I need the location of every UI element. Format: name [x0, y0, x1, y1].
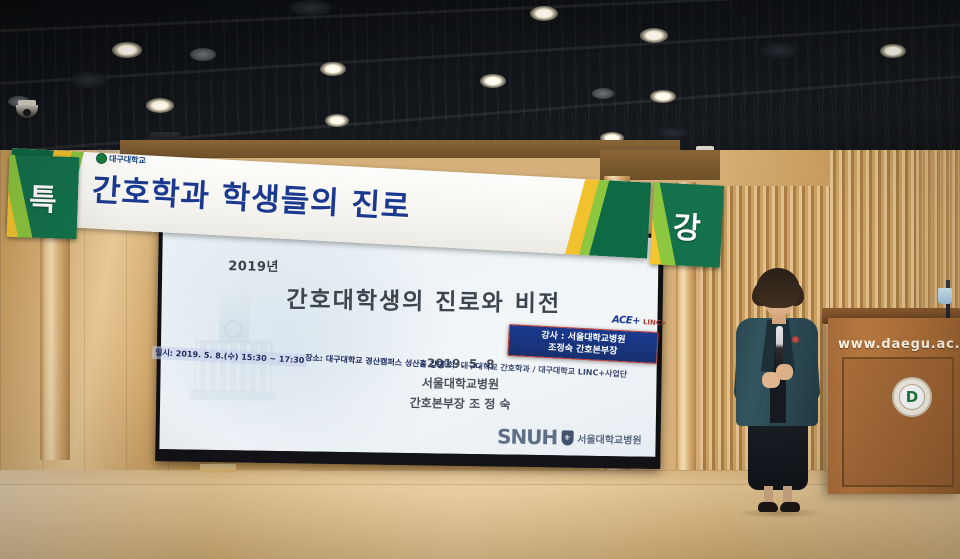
linc-logo: LINC+ — [643, 318, 667, 327]
ceiling-vent — [656, 126, 690, 140]
event-banner: 사랑·빛·자유의 진리 대구대학교 간호학과 학생들의 진로 일시: 2019.… — [0, 140, 720, 250]
speaker-hair — [756, 268, 800, 308]
slide-title: 간호대학생의 진로와 비전 — [214, 279, 634, 320]
podium-front-panel — [842, 357, 954, 487]
daegu-university-mark-icon — [96, 153, 108, 165]
ceiling-downlight — [650, 90, 676, 103]
floor-uplight — [200, 464, 236, 472]
slide-year: 2019년 — [228, 255, 279, 275]
ace-logo: ACE+ — [612, 315, 641, 327]
banner-left-flag: 특 — [7, 155, 80, 239]
ceiling-vent — [70, 72, 108, 88]
ceiling-vent — [760, 42, 800, 59]
speaker-shoe — [780, 502, 800, 512]
speaker-hand — [776, 364, 793, 380]
ceiling-downlight-off — [190, 48, 216, 61]
ceiling-downlight — [530, 6, 558, 21]
lecture-hall-photo: 2019년 간호대학생의 진로와 비전 2019. 5. 8 서울대학교병원 간… — [0, 0, 960, 559]
banner-right-flag-char: 강 — [650, 182, 724, 268]
ceiling-downlight-off — [592, 88, 614, 99]
ceiling-downlight — [640, 28, 668, 43]
ceiling-vent — [290, 0, 332, 16]
microphone-icon — [776, 326, 783, 366]
speaker-brooch-icon — [792, 336, 799, 343]
ceiling-downlight — [112, 42, 142, 58]
snuh-shield-icon: ⚜ — [561, 430, 573, 445]
ceiling-downlight — [320, 62, 346, 76]
banner-right-flag: 강 — [650, 182, 724, 268]
snuh-logo-korean: 서울대학교병원 — [577, 430, 642, 446]
ceiling-downlight — [880, 44, 906, 58]
speaker-shoe — [758, 502, 778, 512]
podium-emblem-mark: D — [899, 384, 925, 410]
snuh-logo-latin: SNUH — [497, 424, 557, 449]
security-camera-icon — [16, 100, 38, 118]
water-cup — [938, 288, 952, 304]
ceiling-downlight — [480, 74, 506, 88]
speaker-person — [722, 268, 830, 518]
daegu-university-emblem-icon: D — [892, 377, 932, 417]
ceiling-downlight — [325, 114, 349, 127]
snuh-logo: SNUH ⚜ 서울대학교병원 — [497, 424, 642, 450]
speaker-skirt — [748, 418, 808, 490]
banner-left-flag-char: 특 — [7, 155, 80, 239]
daegu-university-name: 대구대학교 — [109, 153, 146, 166]
ceiling-downlight — [146, 98, 174, 113]
podium-url-text: www.daegu.ac.k — [838, 337, 960, 352]
